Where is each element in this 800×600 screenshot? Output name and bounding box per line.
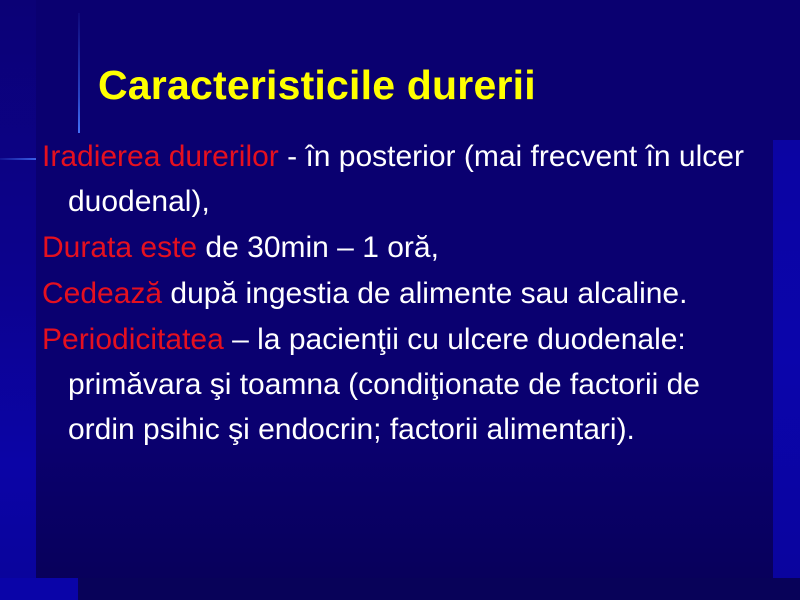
panel-shading xyxy=(36,430,773,578)
right-accent-band xyxy=(773,140,800,578)
vertical-accent-line xyxy=(78,13,80,133)
bottom-left-accent-band xyxy=(0,578,78,600)
paragraph-text: după ingestia de alimente sau alcaline. xyxy=(162,277,687,310)
horizontal-accent-line xyxy=(0,158,36,160)
paragraph-keyword: Durata este xyxy=(42,231,197,264)
paragraph-keyword: Iradierea durerilor xyxy=(42,140,279,173)
body-paragraph: Iradierea durerilor - în posterior (mai … xyxy=(42,134,762,224)
left-accent-band xyxy=(0,0,36,578)
body-paragraph: Periodicitatea – la pacienţii cu ulcere … xyxy=(42,317,762,452)
paragraph-text: de 30min – 1 oră, xyxy=(197,231,439,264)
presentation-slide: Caracteristicile durerii Iradierea durer… xyxy=(0,0,800,600)
paragraph-keyword: Cedează xyxy=(42,277,162,310)
paragraph-keyword: Periodicitatea xyxy=(42,323,224,356)
slide-body: Iradierea durerilor - în posterior (mai … xyxy=(42,134,762,452)
page-title: Caracteristicile durerii xyxy=(98,60,718,110)
body-paragraph: Durata este de 30min – 1 oră, xyxy=(42,225,762,270)
body-paragraph: Cedează după ingestia de alimente sau al… xyxy=(42,271,762,316)
bottom-strip xyxy=(78,578,800,600)
